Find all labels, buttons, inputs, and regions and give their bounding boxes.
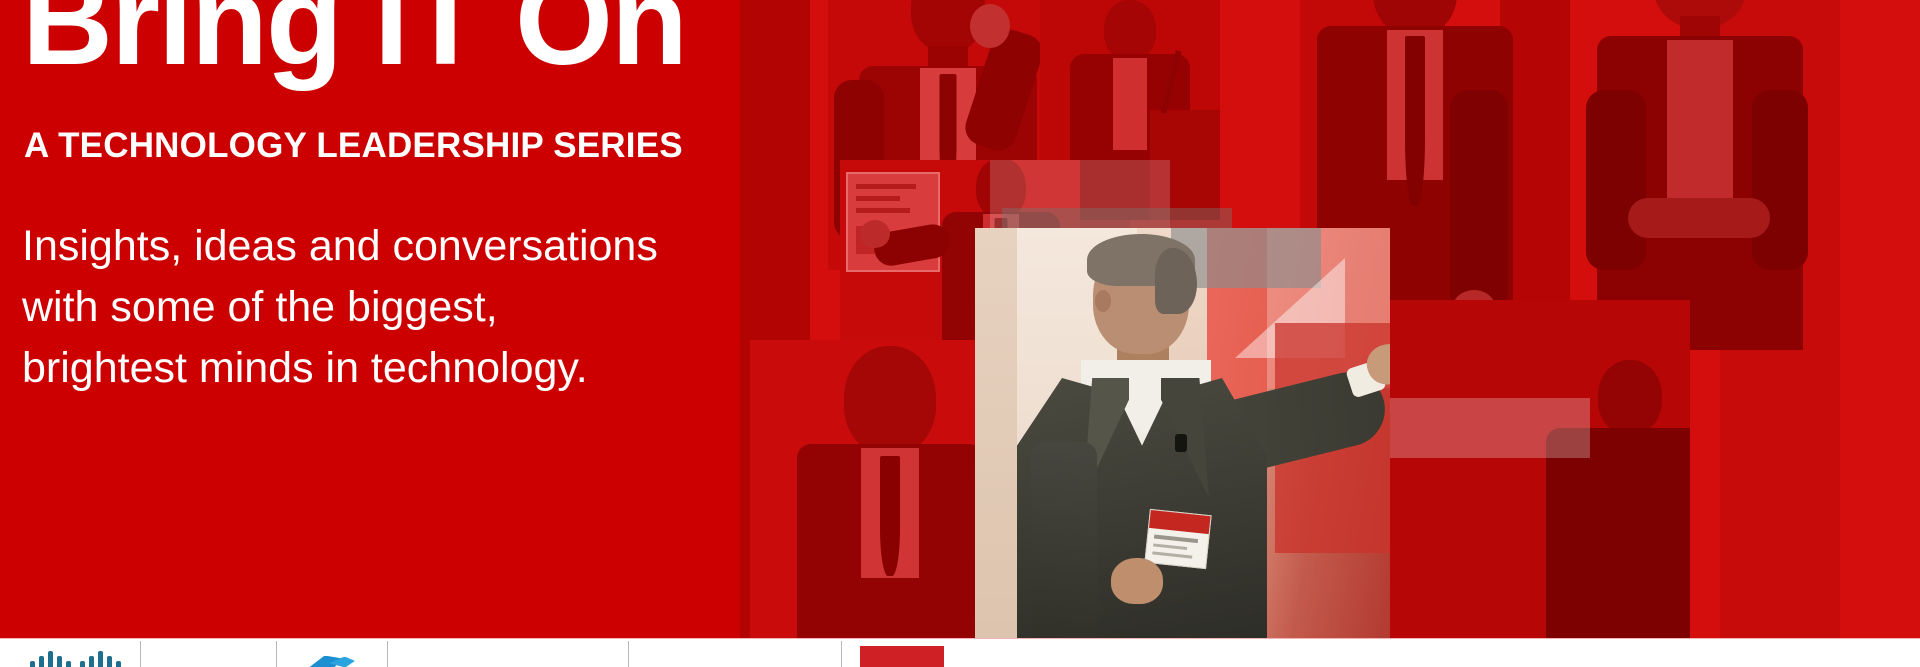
lapel-microphone-icon	[1175, 434, 1187, 452]
partner-logo-4-mark	[388, 639, 628, 667]
partner-logo-4[interactable]	[388, 639, 628, 667]
red-block-logo-icon	[860, 646, 944, 667]
speaker-left-hand	[1111, 558, 1163, 604]
body-line-1: Insights, ideas and conversations	[22, 216, 732, 277]
speaker-name-badge	[1144, 509, 1211, 569]
standing-woman-arms-crossed	[1570, 0, 1830, 350]
partner-logo-2[interactable]	[141, 639, 276, 667]
banner-subtitle: A TECHNOLOGY LEADERSHIP SERIES	[24, 126, 683, 166]
badge-line	[1153, 543, 1187, 550]
speaker-ear	[1095, 290, 1111, 312]
partner-logo-2-mark	[141, 639, 276, 667]
partner-logo-5[interactable]	[629, 639, 841, 667]
collage-tile-lower-right	[1390, 300, 1690, 638]
collage-tile-lower-left	[750, 340, 1010, 638]
banner-text-column: Bring IT On A TECHNOLOGY LEADERSHIP SERI…	[0, 0, 760, 638]
badge-line	[1152, 551, 1192, 558]
partner-logo-bar	[0, 638, 1920, 667]
banner-body-copy: Insights, ideas and conversations with s…	[22, 216, 732, 399]
partner-logo-6[interactable]	[842, 639, 962, 667]
badge-line	[1154, 535, 1198, 544]
cisco-logo-icon	[18, 648, 122, 667]
speaker-left-arm	[1031, 442, 1097, 638]
collage-tile-standing-woman	[1570, 0, 1830, 350]
blue-swoosh-icon	[309, 650, 355, 667]
crossed-hands	[1628, 198, 1770, 238]
partner-logo-5-mark	[629, 639, 841, 667]
speaker-bust	[800, 340, 980, 638]
light-panel	[1390, 398, 1590, 458]
body-line-3: brightest minds in technology.	[22, 338, 732, 399]
badge-header	[1149, 510, 1211, 534]
bring-it-on-banner: Bring IT On A TECHNOLOGY LEADERSHIP SERI…	[0, 0, 1920, 667]
body-line-2: with some of the biggest,	[22, 277, 732, 338]
featured-speaker-photo	[975, 228, 1390, 638]
partner-logo-3[interactable]	[277, 639, 387, 667]
logo-bar-filler	[962, 639, 1920, 667]
partner-logo-cisco[interactable]	[0, 639, 140, 667]
photo-backdrop-left	[975, 228, 1017, 638]
banner-headline: Bring IT On	[22, 0, 686, 84]
